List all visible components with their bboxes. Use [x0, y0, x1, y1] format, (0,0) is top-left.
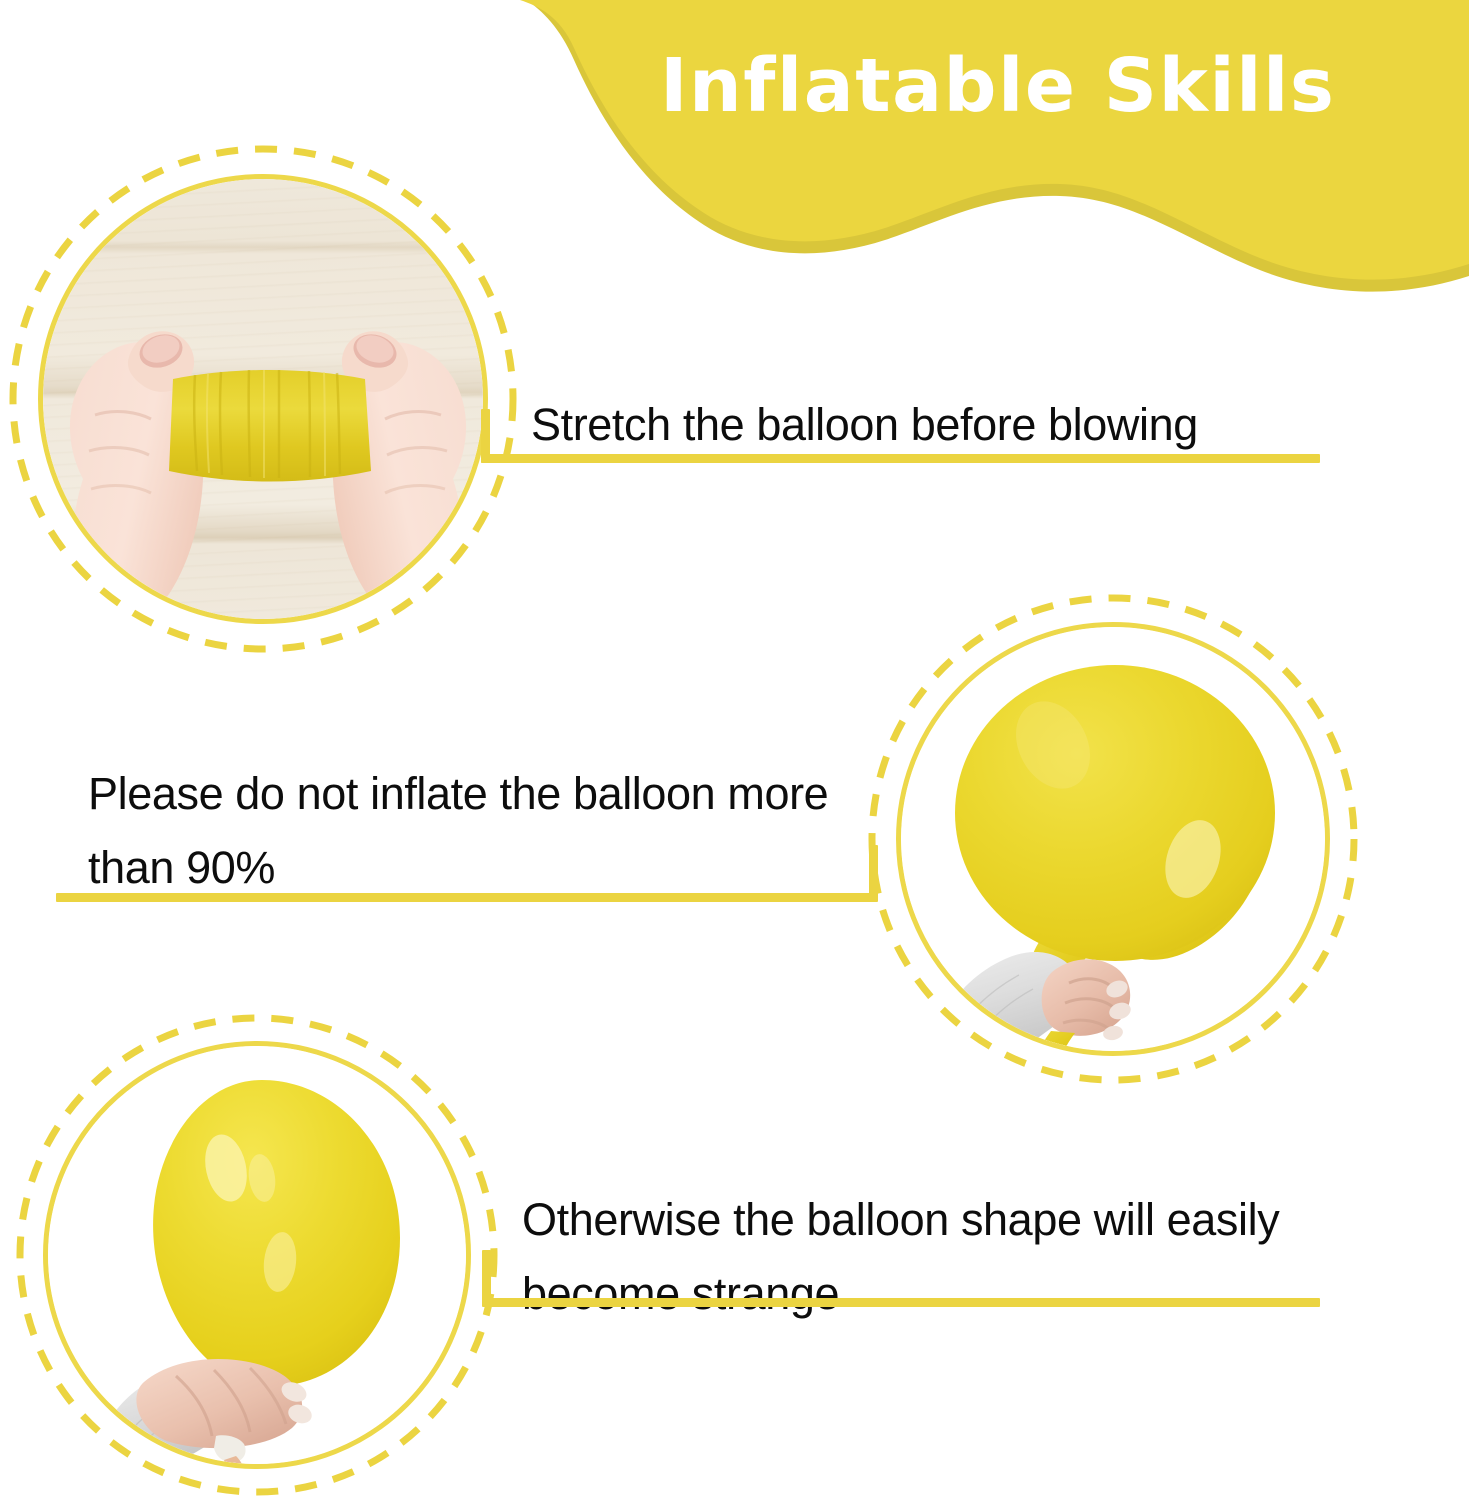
step-1-photo	[38, 174, 488, 624]
hand-holding-inflated-balloon-illustration	[901, 627, 1325, 1051]
step-1-photo-frame	[7, 143, 519, 655]
step-3-caption: Otherwise the balloon shape will easily …	[522, 1183, 1342, 1331]
infographic-page: Inflatable Skills	[0, 0, 1469, 1500]
step-2-photo	[896, 622, 1330, 1056]
hand-holding-overinflated-balloon-illustration	[48, 1046, 466, 1464]
step-3-photo	[43, 1041, 471, 1469]
step-1-caption: Stretch the balloon before blowing	[531, 388, 1321, 462]
page-title: Inflatable Skills	[660, 36, 1469, 136]
hands-stretching-balloon-illustration	[43, 179, 483, 619]
step-2-caption: Please do not inflate the balloon more t…	[88, 757, 888, 905]
step-3-rule	[482, 1298, 1320, 1307]
step-1-rule	[481, 454, 1320, 463]
step-3-rule-tick	[482, 1250, 491, 1304]
step-2-rule	[56, 893, 878, 902]
step-3-photo-frame	[14, 1012, 500, 1498]
step-2-photo-frame	[866, 592, 1360, 1086]
step-2-rule-tick	[869, 845, 878, 899]
